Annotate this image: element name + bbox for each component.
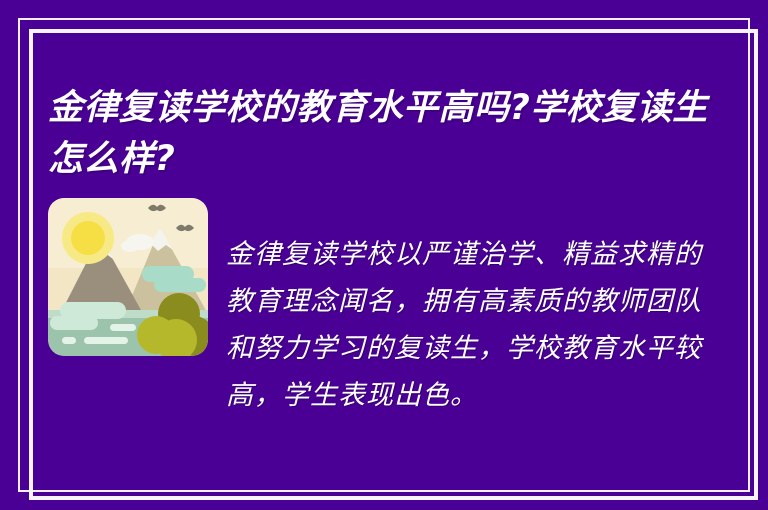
body-paragraph: 金律复读学校以严谨治学、精益求精的教育理念闻名，拥有高素质的教师团队和努力学习的… <box>226 225 708 419</box>
mountain-landscape-illustration <box>48 198 208 356</box>
water-highlight-3 <box>62 337 76 344</box>
poster-canvas: 金律复读学校的教育水平高吗?学校复读生怎么样? <box>0 0 768 510</box>
sun-core <box>71 221 105 255</box>
water-highlight-2 <box>84 337 128 344</box>
illustration-container <box>48 198 208 356</box>
white-cloud-puff <box>121 240 139 252</box>
water-highlight-1 <box>110 324 136 331</box>
pale-cloud-small <box>50 316 98 330</box>
mint-cloud-lower <box>154 278 206 292</box>
content-row: 金律复读学校以严谨治学、精益求精的教育理念闻名，拥有高素质的教师团队和努力学习的… <box>48 198 708 446</box>
page-title: 金律复读学校的教育水平高吗?学校复读生怎么样? <box>48 83 708 185</box>
